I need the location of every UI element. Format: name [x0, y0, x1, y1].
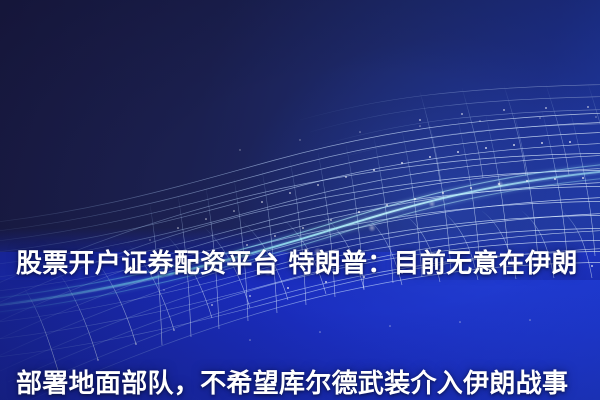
news-banner: 股票开户证券配资平台 特朗普：目前无意在伊朗 部署地面部队，不希望库尔德武装介入… [0, 0, 600, 400]
headline-line-2: 部署地面部队，不希望库尔德武装介入伊朗战事 [16, 364, 591, 400]
headline-text: 股票开户证券配资平台 特朗普：目前无意在伊朗 部署地面部队，不希望库尔德武装介入… [16, 164, 591, 400]
headline-line-1: 股票开户证券配资平台 特朗普：目前无意在伊朗 [16, 244, 591, 284]
